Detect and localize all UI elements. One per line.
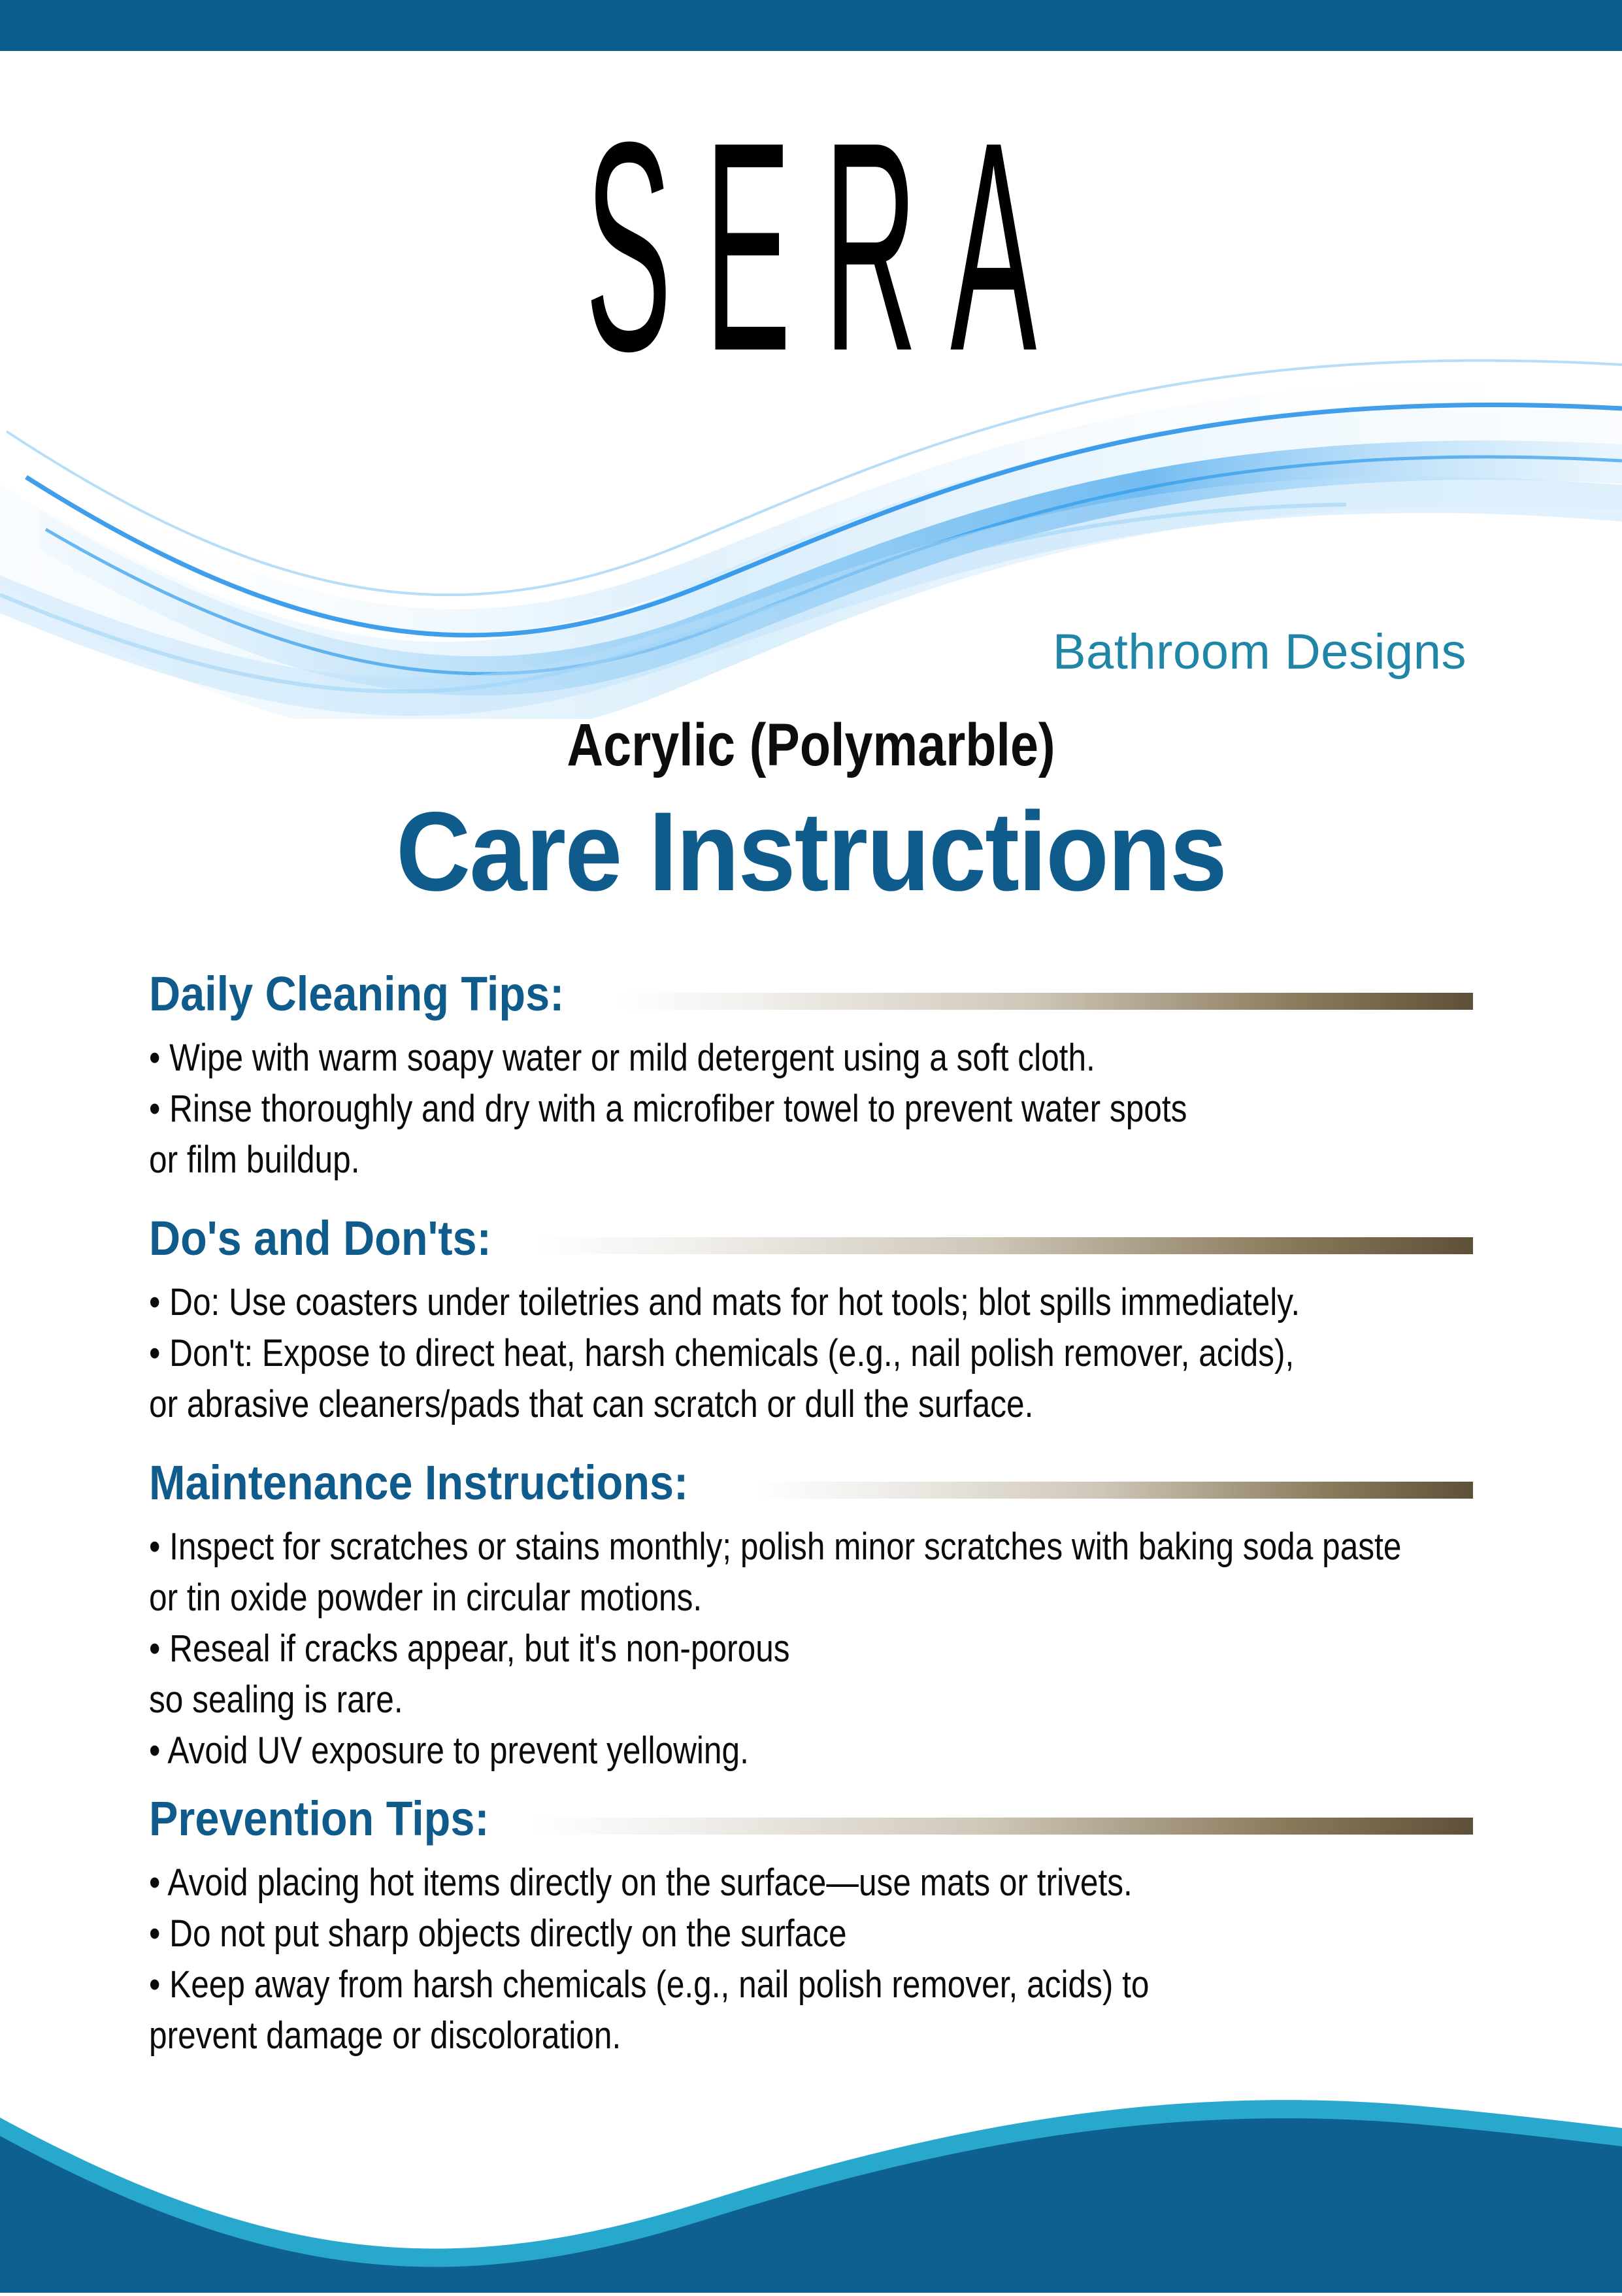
section-divider-rule [617,993,1473,1010]
section-header: Do's and Don'ts: [149,1210,1473,1267]
footer-wave-graphic [0,2071,1622,2293]
section-divider-rule [536,1237,1473,1254]
bullet-line: • Do: Use coasters under toiletries and … [149,1277,1281,1328]
section-bullets: • Wipe with warm soapy water or mild det… [149,1033,1473,1186]
bullet-line: • Rinse thoroughly and dry with a microf… [149,1084,1281,1135]
section-dos-and-donts: Do's and Don'ts: • Do: Use coasters unde… [149,1210,1473,1430]
bullet-line-continuation: or abrasive cleaners/pads that can scrat… [149,1379,1281,1430]
section-heading-dos-and-donts: Do's and Don'ts: [149,1210,491,1267]
section-heading-prevention-tips: Prevention Tips: [149,1791,489,1847]
page-title: Care Instructions [65,791,1557,912]
section-prevention-tips: Prevention Tips: • Avoid placing hot ite… [149,1791,1473,2061]
top-accent-bar [0,0,1622,51]
bullet-line: • Wipe with warm soapy water or mild det… [149,1033,1281,1084]
bullet-line: • Avoid placing hot items directly on th… [149,1857,1281,1908]
section-bullets: • Inspect for scratches or stains monthl… [149,1522,1473,1776]
brand-wordmark: SERA [438,98,1184,396]
section-heading-maintenance-instructions: Maintenance Instructions: [149,1455,688,1511]
bullet-line: • Keep away from harsh chemicals (e.g., … [149,1959,1281,2010]
bullet-line-continuation: or film buildup. [149,1135,1281,1186]
bullet-line: • Inspect for scratches or stains monthl… [149,1522,1281,1572]
product-subtitle: Acrylic (Polymarble) [130,712,1493,778]
bullet-line-continuation: or tin oxide powder in circular motions. [149,1572,1281,1623]
care-instructions-content: Daily Cleaning Tips: • Wipe with warm so… [149,966,1473,2061]
section-bullets: • Do: Use coasters under toiletries and … [149,1277,1473,1430]
section-bullets: • Avoid placing hot items directly on th… [149,1857,1473,2061]
bullet-line-continuation: so sealing is rare. [149,1674,1281,1725]
section-maintenance-instructions: Maintenance Instructions: • Inspect for … [149,1455,1473,1776]
section-heading-daily-cleaning-tips: Daily Cleaning Tips: [149,966,564,1022]
section-header: Maintenance Instructions: [149,1455,1473,1511]
section-divider-rule [533,1818,1473,1835]
section-daily-cleaning-tips: Daily Cleaning Tips: • Wipe with warm so… [149,966,1473,1186]
bullet-line: • Don't: Expose to direct heat, harsh ch… [149,1328,1281,1379]
bullet-line: • Avoid UV exposure to prevent yellowing… [149,1725,1281,1776]
section-divider-rule [755,1482,1473,1499]
brand-tagline: Bathroom Designs [1053,624,1466,680]
bullet-line: • Reseal if cracks appear, but it's non-… [149,1623,1281,1674]
section-header: Daily Cleaning Tips: [149,966,1473,1022]
bullet-line: • Do not put sharp objects directly on t… [149,1908,1281,1959]
section-header: Prevention Tips: [149,1791,1473,1847]
bullet-line-continuation: prevent damage or discoloration. [149,2010,1281,2061]
